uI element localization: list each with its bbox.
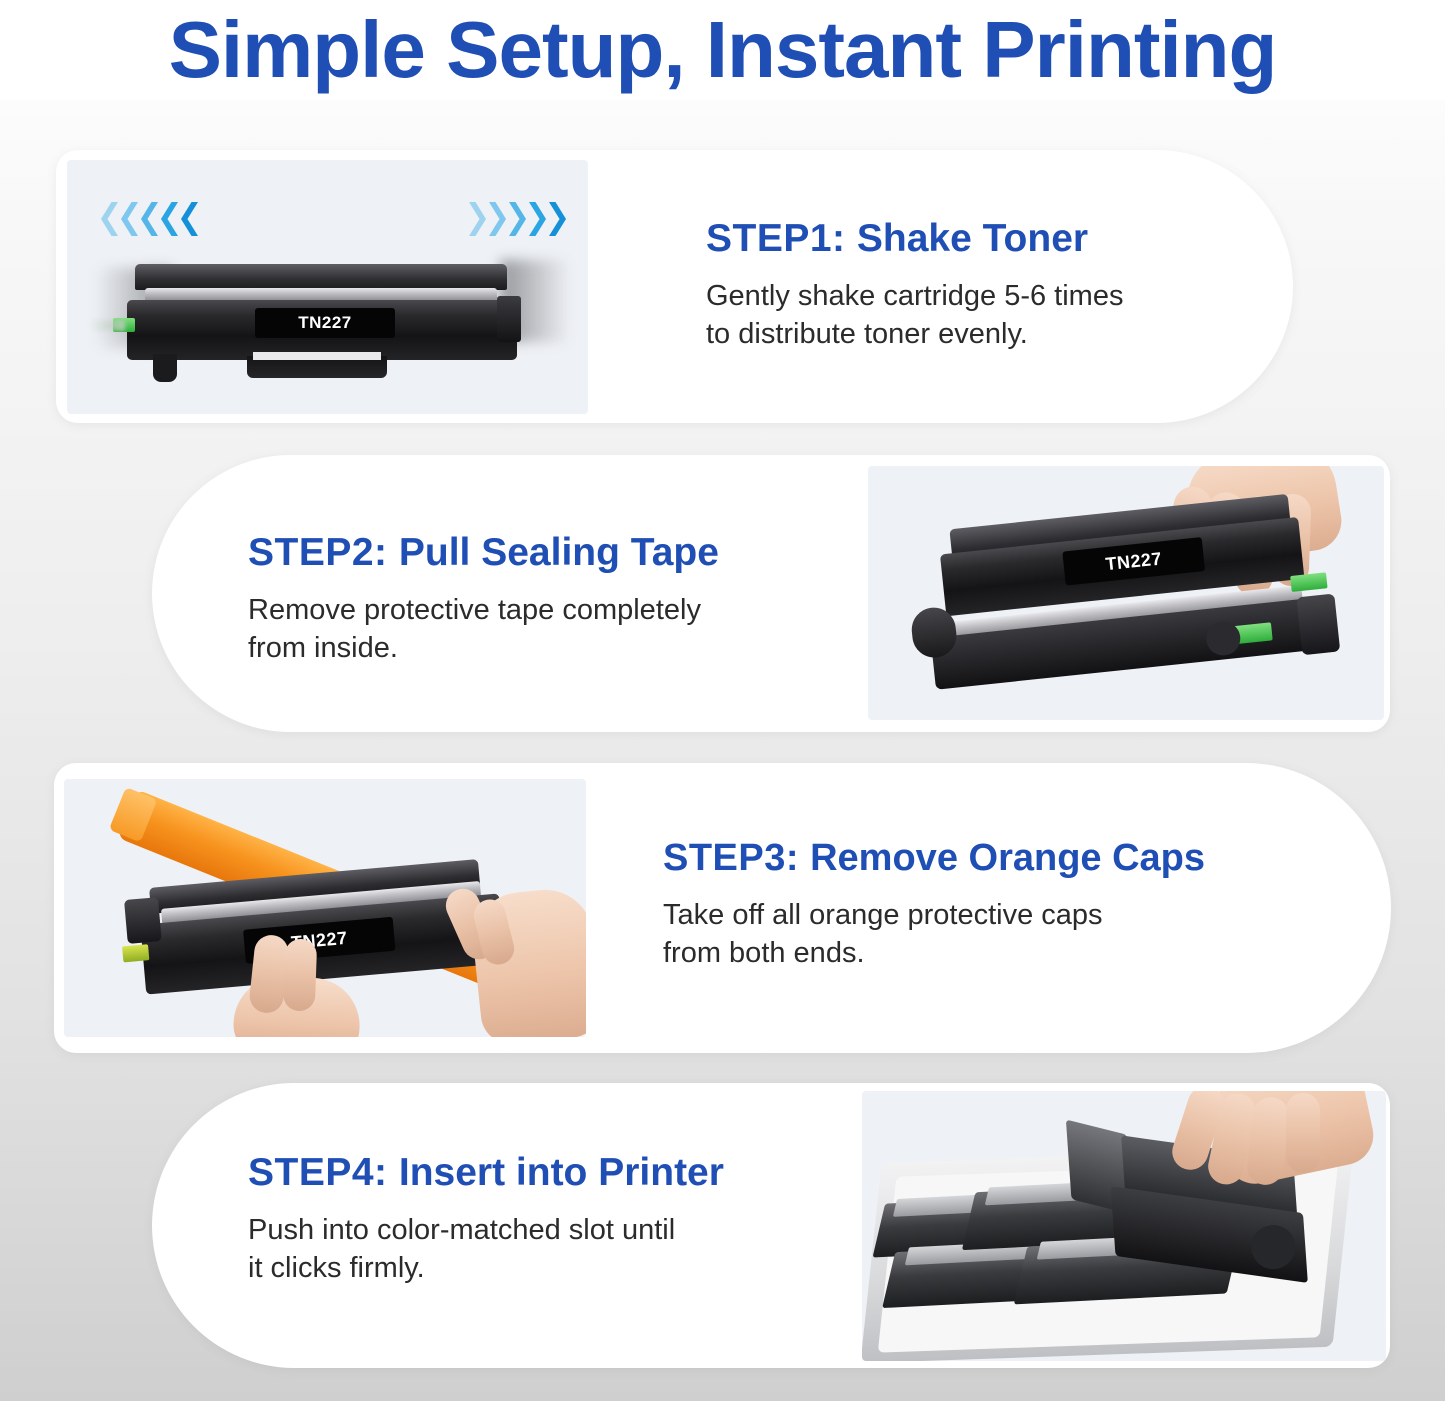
blur-streak bbox=[91, 320, 125, 331]
cartridge-label: TN227 bbox=[255, 308, 395, 338]
shake-arrows-right bbox=[469, 202, 566, 236]
cartridge-top-rail bbox=[135, 264, 507, 290]
chevron-left-icon bbox=[161, 202, 178, 236]
chevron-left-icon bbox=[141, 202, 158, 236]
chevron-right-icon bbox=[469, 202, 486, 236]
step-4-image bbox=[862, 1091, 1386, 1361]
step-4-heading: STEP4: Insert into Printer bbox=[248, 1152, 848, 1195]
step-1-heading: STEP1: Shake Toner bbox=[706, 218, 1266, 261]
step-2-number: STEP2: bbox=[248, 531, 399, 574]
step-4-number: STEP4: bbox=[248, 1151, 399, 1194]
cartridge-tab bbox=[153, 354, 177, 382]
step-3-desc-line1: Take off all orange protective caps bbox=[663, 896, 1303, 934]
step-2-desc-line1: Remove protective tape completely bbox=[248, 591, 808, 629]
step-3-desc-line2: from both ends. bbox=[663, 934, 1303, 972]
step-4-desc-line1: Push into color-matched slot until bbox=[248, 1211, 848, 1249]
step-3-text: STEP3: Remove Orange Caps Take off all o… bbox=[663, 838, 1303, 972]
step-2-image: TN227 bbox=[868, 466, 1384, 720]
finger bbox=[283, 938, 317, 1011]
contact-chip bbox=[122, 944, 149, 962]
step-3-heading: STEP3: Remove Orange Caps bbox=[663, 838, 1303, 880]
page-header: Simple Setup, Instant Printing bbox=[0, 0, 1445, 100]
step-1-label: Shake Toner bbox=[857, 217, 1088, 260]
page-title: Simple Setup, Instant Printing bbox=[169, 10, 1277, 90]
finger bbox=[1286, 1093, 1320, 1173]
chevron-left-icon bbox=[181, 202, 198, 236]
step-1-desc-line2: to distribute toner evenly. bbox=[706, 315, 1266, 353]
chevron-right-icon bbox=[529, 202, 546, 236]
step-2-label: Pull Sealing Tape bbox=[399, 531, 719, 574]
chevron-left-icon bbox=[121, 202, 138, 236]
step-3-number: STEP3: bbox=[663, 837, 810, 879]
step-2-desc-line2: from inside. bbox=[248, 629, 808, 667]
step-1-text: STEP1: Shake Toner Gently shake cartridg… bbox=[706, 218, 1266, 353]
step-1-number: STEP1: bbox=[706, 217, 857, 260]
step-3-label: Remove Orange Caps bbox=[810, 837, 1205, 879]
step-4-label: Insert into Printer bbox=[399, 1151, 724, 1194]
step-4-text: STEP4: Insert into Printer Push into col… bbox=[248, 1152, 848, 1287]
cartridge-end-cap bbox=[497, 296, 521, 342]
drum-end-cap bbox=[1296, 594, 1340, 656]
chevron-right-icon bbox=[489, 202, 506, 236]
contact-chip bbox=[1290, 572, 1327, 592]
chevron-right-icon bbox=[509, 202, 526, 236]
step-4-desc-line2: it clicks firmly. bbox=[248, 1249, 848, 1287]
cartridge-end-cap bbox=[124, 897, 162, 944]
step-1-image: TN227 bbox=[67, 160, 588, 414]
drum-unit-assembly: TN227 bbox=[901, 487, 1339, 720]
shake-arrows-left bbox=[101, 202, 198, 236]
cartridge-foot-edge bbox=[253, 352, 381, 360]
chevron-right-icon bbox=[549, 202, 566, 236]
step-1-desc-line1: Gently shake cartridge 5-6 times bbox=[706, 277, 1266, 315]
chevron-left-icon bbox=[101, 202, 118, 236]
step-2-heading: STEP2: Pull Sealing Tape bbox=[248, 532, 808, 575]
step-2-text: STEP2: Pull Sealing Tape Remove protecti… bbox=[248, 532, 808, 667]
step-3-image: TN227 bbox=[64, 779, 586, 1037]
